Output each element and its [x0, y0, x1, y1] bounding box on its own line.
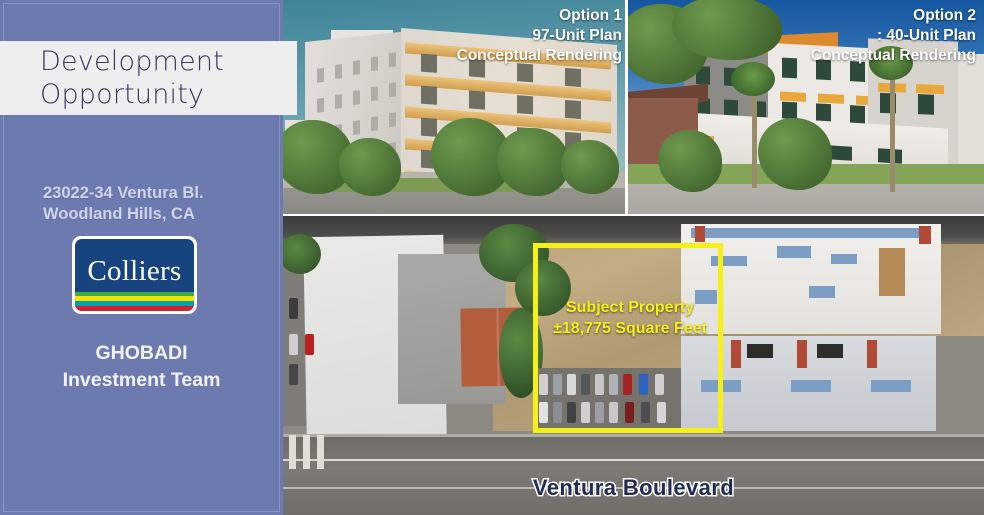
tree	[758, 118, 832, 190]
subject-property-label: Subject Property ±18,775 Square Feet	[540, 297, 720, 339]
parked-car	[289, 334, 298, 355]
option-1-subtitle: Conceptual Rendering	[457, 46, 622, 66]
logo-stripe-red	[75, 306, 194, 311]
logo-frame: Colliers	[72, 236, 197, 314]
team-name: GHOBADI	[20, 340, 263, 367]
headline-line-2: Opportunity	[40, 78, 297, 111]
palm-tree-trunk	[890, 62, 895, 192]
parked-car	[289, 298, 298, 319]
option-1-title: Option 1	[457, 6, 622, 26]
aerial-site-photo	[283, 216, 984, 515]
headline-line-1: Development	[40, 45, 297, 78]
tree	[658, 130, 722, 192]
subject-property-area: ±18,775 Square Feet	[540, 318, 720, 339]
street-name-label: Ventura Boulevard	[283, 475, 984, 501]
option-2-subtitle: Conceptual Rendering	[811, 46, 976, 66]
team-subtitle: Investment Team	[20, 367, 263, 394]
headline-banner: Development Opportunity	[0, 41, 297, 115]
logo-stripes	[75, 292, 194, 311]
option-1-caption: Option 1 97-Unit Plan Conceptual Renderi…	[457, 6, 622, 66]
option-2-units: : 40-Unit Plan	[811, 26, 976, 46]
logo-wordmark: Colliers	[87, 257, 181, 286]
address-street: 23022-34 Ventura Bl.	[43, 183, 283, 204]
address-city-state: Woodland Hills, CA	[43, 204, 283, 225]
parked-car	[289, 364, 298, 385]
option-2-title: Option 2	[811, 6, 976, 26]
photo-divider-horizontal	[283, 214, 984, 216]
palm-tree-fronds	[731, 62, 775, 96]
photo-divider-vertical	[625, 0, 628, 214]
photo-grid: Option 1 97-Unit Plan Conceptual Renderi…	[283, 0, 984, 515]
tree	[339, 138, 401, 196]
option-2-caption: Option 2 : 40-Unit Plan Conceptual Rende…	[811, 6, 976, 66]
marketing-flyer: Option 1 97-Unit Plan Conceptual Renderi…	[0, 0, 984, 515]
option-1-units: 97-Unit Plan	[457, 26, 622, 46]
tree	[561, 140, 619, 194]
tree	[497, 128, 569, 196]
parked-car	[305, 334, 314, 355]
broker-team: GHOBADI Investment Team	[20, 340, 263, 394]
subject-property-title: Subject Property	[540, 297, 720, 318]
colliers-logo: Colliers	[72, 236, 197, 314]
property-address: 23022-34 Ventura Bl. Woodland Hills, CA	[43, 183, 283, 225]
logo-field: Colliers	[75, 239, 194, 311]
